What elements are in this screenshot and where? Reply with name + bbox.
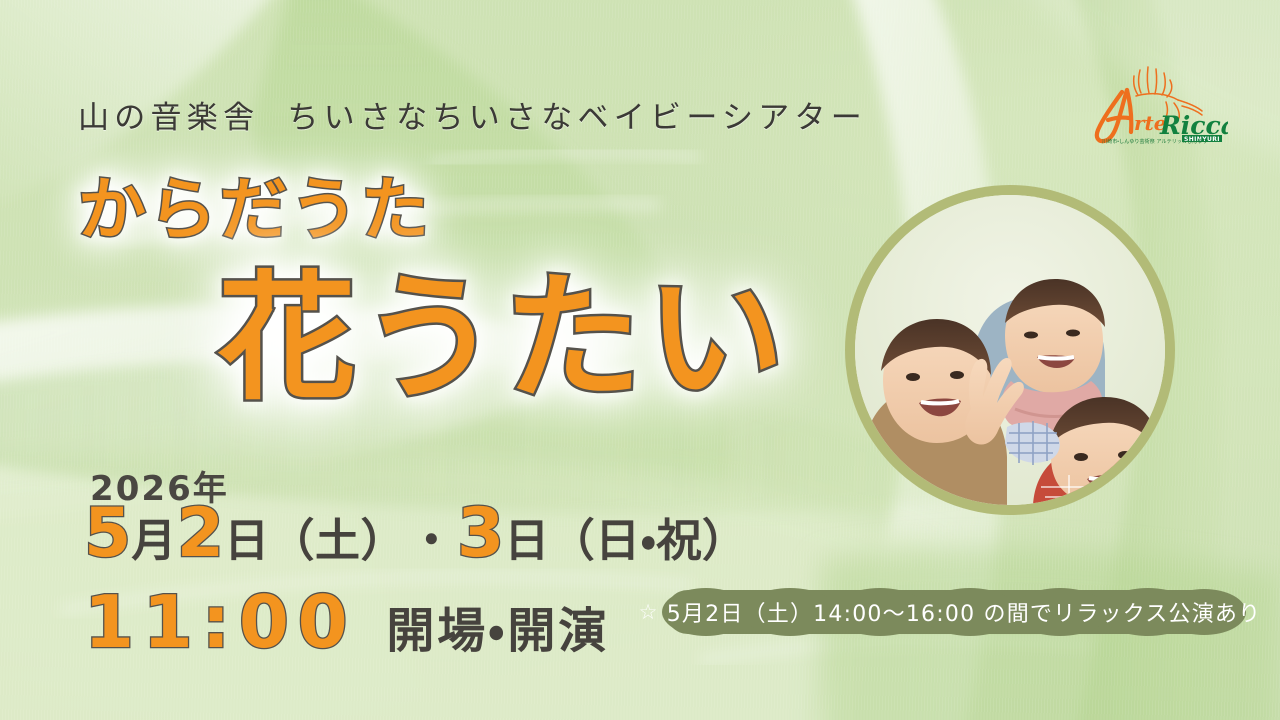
subtitle-karadauta: からだうた [78, 177, 432, 245]
banner-text-row: ☆ 5月2日（土）14:00〜16:00 の間でリラックス公演あり [648, 588, 1248, 636]
babies-photo-illustration [855, 195, 1165, 505]
main-title-hanautai: 花うたい [218, 270, 789, 408]
relax-performance-banner: ☆ 5月2日（土）14:00〜16:00 の間でリラックス公演あり [648, 588, 1248, 636]
header-organizer: 山の音楽舎 [78, 100, 259, 136]
header-series: ちいさなちいさなベイビーシアター [287, 100, 867, 136]
banner-message: 5月2日（土）14:00〜16:00 の間でリラックス公演あり [667, 596, 1262, 628]
artericca-logo[interactable]: rte Ricca SHINYURI 川崎市・しんゆり芸術祭 アルテリッカしんゆ… [1078, 62, 1228, 148]
date-month-number: 5 [84, 500, 131, 568]
schedule-time: 11:00 [84, 586, 356, 658]
photo-ring [845, 185, 1175, 515]
date-day2-number: 3 [457, 500, 504, 568]
schedule-date-row: 5 月 2 日（土） ・ 3 日（日・祝） [84, 500, 747, 568]
artericca-logo-mark: rte Ricca SHINYURI [1078, 62, 1228, 148]
poster-canvas: 山の音楽舎ちいさなちいさなベイビーシアター [0, 0, 1280, 720]
header-tagline: 山の音楽舎ちいさなちいさなベイビーシアター [78, 92, 867, 137]
schedule-time-row: 11:00 開場・開演 [84, 586, 609, 658]
babies-photo [855, 195, 1165, 505]
date-day1-number: 2 [177, 500, 224, 568]
date-month-kanji: 月 [131, 518, 176, 563]
star-icon: ☆ [639, 600, 659, 624]
date-day2-label: 日（日・祝） [504, 518, 747, 563]
date-day1-label: 日（土） [224, 518, 406, 563]
date-separator: ・ [406, 518, 457, 563]
schedule-time-label: 開場・開演 [386, 607, 609, 655]
logo-subtitle-jp: 川崎市・しんゆり芸術祭 アルテリッカしんゆり [1102, 138, 1207, 145]
